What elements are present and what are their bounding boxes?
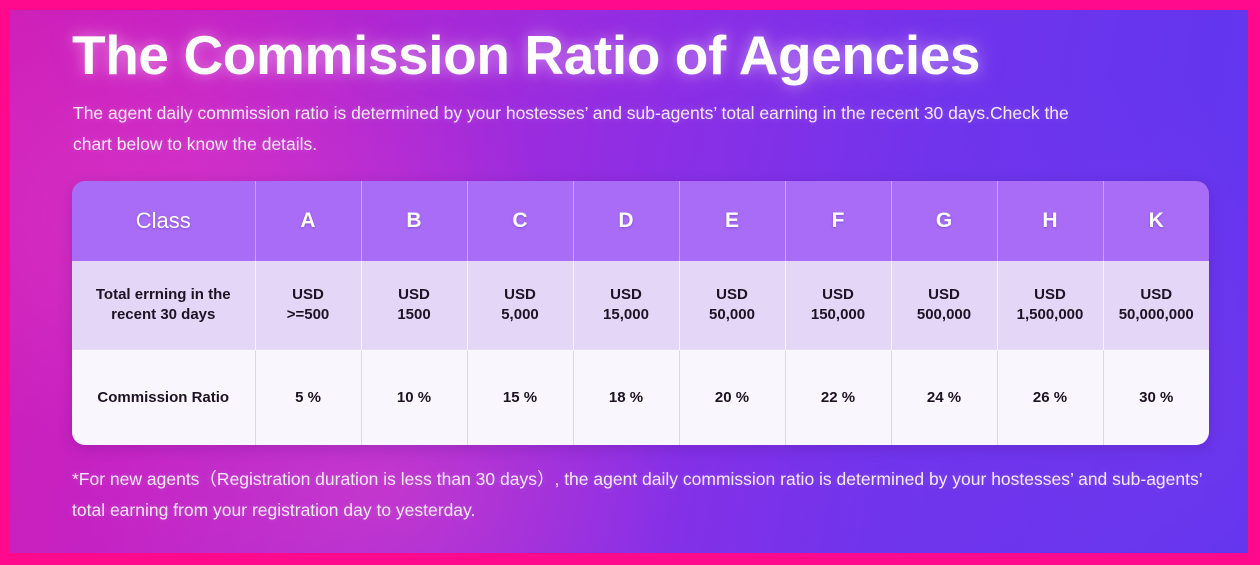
- cell-earning-c: USD 5,000: [467, 261, 573, 349]
- row-label-line1: Total errning in the: [96, 286, 231, 303]
- header-cell-f: F: [785, 181, 891, 261]
- commission-table: Class A B C D E F G H K: [72, 181, 1209, 445]
- cell-ratio-d: 18 %: [573, 349, 679, 445]
- row-label-total-earning: Total errning in the recent 30 days: [72, 261, 255, 349]
- cell-earning-f: USD 150,000: [785, 261, 891, 349]
- currency-label: USD: [504, 286, 536, 303]
- page-title: The Commission Ratio of Agencies: [72, 22, 1210, 88]
- currency-label: USD: [610, 286, 642, 303]
- cell-ratio-a: 5 %: [255, 349, 361, 445]
- amount-value: 500,000: [917, 306, 971, 323]
- cell-ratio-g: 24 %: [891, 349, 997, 445]
- currency-label: USD: [822, 286, 854, 303]
- header-cell-e: E: [679, 181, 785, 261]
- cell-earning-h: USD 1,500,000: [997, 261, 1103, 349]
- currency-label: USD: [716, 286, 748, 303]
- currency-label: USD: [398, 286, 430, 303]
- row-label-commission-ratio: Commission Ratio: [72, 349, 255, 445]
- amount-value: 15,000: [603, 306, 649, 323]
- banner-content: The Commission Ratio of Agencies The age…: [65, 22, 1210, 543]
- cell-ratio-c: 15 %: [467, 349, 573, 445]
- table-row-commission-ratio: Commission Ratio 5 % 10 % 15 % 18 % 20 %…: [72, 349, 1209, 445]
- subtitle-text: The agent daily commission ratio is dete…: [73, 98, 1083, 160]
- header-cell-k: K: [1103, 181, 1209, 261]
- amount-value: 50,000,000: [1119, 306, 1194, 323]
- cell-ratio-e: 20 %: [679, 349, 785, 445]
- currency-label: USD: [928, 286, 960, 303]
- table-header-row: Class A B C D E F G H K: [72, 181, 1209, 261]
- cell-ratio-h: 26 %: [997, 349, 1103, 445]
- currency-label: USD: [1140, 286, 1172, 303]
- amount-value: >=500: [287, 306, 330, 323]
- header-cell-c: C: [467, 181, 573, 261]
- header-cell-a: A: [255, 181, 361, 261]
- cell-ratio-k: 30 %: [1103, 349, 1209, 445]
- amount-value: 150,000: [811, 306, 865, 323]
- header-cell-class: Class: [72, 181, 255, 261]
- header-cell-h: H: [997, 181, 1103, 261]
- header-cell-g: G: [891, 181, 997, 261]
- amount-value: 5,000: [501, 306, 539, 323]
- table-row-total-earning: Total errning in the recent 30 days USD …: [72, 261, 1209, 349]
- currency-label: USD: [1034, 286, 1066, 303]
- amount-value: 1,500,000: [1017, 306, 1084, 323]
- header-cell-d: D: [573, 181, 679, 261]
- cell-earning-k: USD 50,000,000: [1103, 261, 1209, 349]
- amount-value: 50,000: [709, 306, 755, 323]
- table-body: Total errning in the recent 30 days USD …: [72, 261, 1209, 445]
- cell-earning-g: USD 500,000: [891, 261, 997, 349]
- gradient-panel: The Commission Ratio of Agencies The age…: [10, 10, 1248, 553]
- cell-earning-d: USD 15,000: [573, 261, 679, 349]
- cell-ratio-f: 22 %: [785, 349, 891, 445]
- table-header: Class A B C D E F G H K: [72, 181, 1209, 261]
- currency-label: USD: [292, 286, 324, 303]
- amount-value: 1500: [397, 306, 430, 323]
- footnote-text: *For new agents（Registration duration is…: [72, 464, 1210, 526]
- cell-earning-b: USD 1500: [361, 261, 467, 349]
- cell-ratio-b: 10 %: [361, 349, 467, 445]
- cell-earning-e: USD 50,000: [679, 261, 785, 349]
- row-label-line2: recent 30 days: [111, 306, 215, 323]
- commission-table-wrapper: Class A B C D E F G H K: [72, 181, 1209, 445]
- cell-earning-a: USD >=500: [255, 261, 361, 349]
- promo-banner: The Commission Ratio of Agencies The age…: [0, 0, 1260, 565]
- header-cell-b: B: [361, 181, 467, 261]
